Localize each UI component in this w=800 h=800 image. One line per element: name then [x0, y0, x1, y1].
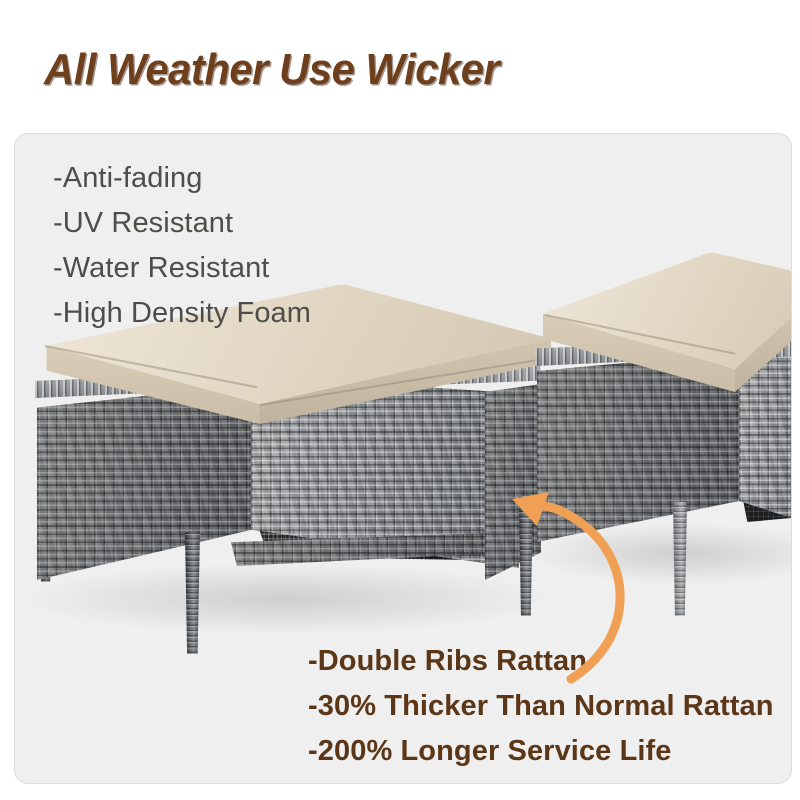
feature-item: -30% Thicker Than Normal Rattan: [308, 684, 774, 729]
ground-shadow: [25, 564, 545, 634]
feature-item: -200% Longer Service Life: [308, 729, 774, 774]
feature-item: -Double Ribs Rattan: [308, 639, 774, 684]
feature-item: -High Density Foam: [53, 291, 311, 336]
feature-item: -Anti-fading: [53, 156, 311, 201]
feature-list-top: -Anti-fading -UV Resistant -Water Resist…: [53, 156, 311, 336]
ottoman-right: [525, 134, 792, 614]
ottoman-leg-front-left: [673, 502, 687, 616]
ottoman-leg-front-left: [185, 532, 200, 654]
page-title: All Weather Use Wicker: [44, 44, 499, 96]
product-photo-panel: -Anti-fading -UV Resistant -Water Resist…: [14, 133, 792, 784]
product-feature-image: All Weather Use Wicker: [0, 0, 800, 800]
feature-item: -Water Resistant: [53, 246, 311, 291]
feature-item: -UV Resistant: [53, 201, 311, 246]
feature-list-bottom: -Double Ribs Rattan -30% Thicker Than No…: [308, 639, 774, 774]
seat-cushion-right: [531, 252, 792, 392]
